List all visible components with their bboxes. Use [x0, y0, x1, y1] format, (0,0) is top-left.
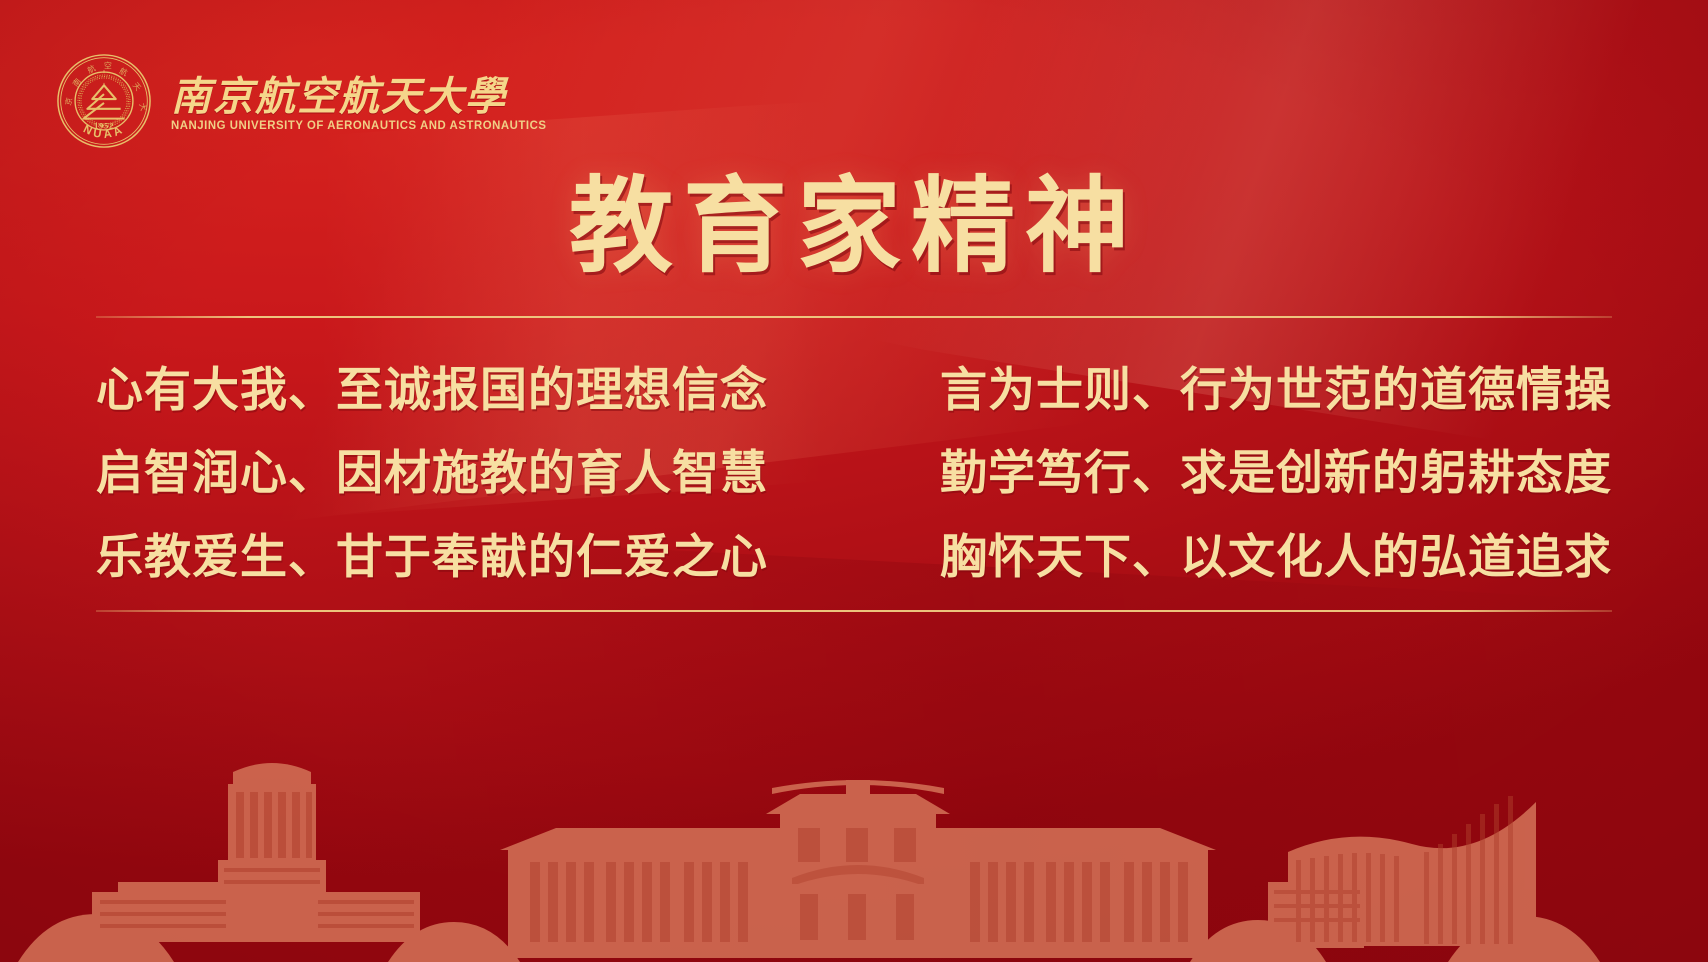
slogan-right-2: 勤学笃行、求是创新的躬耕态度: [940, 451, 1612, 498]
brand-lockup: 1952 NUAA 南 京 航 空 航 天 大 南京航空航天大學: [55, 52, 550, 150]
brand-text-block: 南京航空航天大學 NANJING UNIVERSITY OF AERONAUTI…: [171, 71, 550, 132]
slogan-grid: 心有大我、至诚报国的理想信念 言为士则、行为世范的道德情操 启智润心、因材施教的…: [96, 350, 1612, 600]
campus-buildings-silhouette-icon: [0, 732, 1708, 962]
divider-top: [96, 316, 1612, 318]
slogan-left-3: 乐教爱生、甘于奉献的仁爱之心: [96, 535, 768, 582]
svg-text:南: 南: [70, 76, 83, 88]
university-name-cn: 南京航空航天大學: [171, 77, 550, 117]
slogan-left-1: 心有大我、至诚报国的理想信念: [96, 368, 768, 415]
slogan-right-3: 胸怀天下、以文化人的弘道追求: [940, 535, 1612, 582]
slogan-right-1: 言为士则、行为世范的道德情操: [940, 368, 1612, 415]
page-title: 教育家精神: [0, 168, 1708, 288]
svg-text:空: 空: [104, 61, 112, 71]
slogan-left-2: 启智润心、因材施教的育人智慧: [96, 451, 768, 498]
svg-text:天: 天: [131, 81, 143, 93]
nuaa-emblem-icon: 1952 NUAA 南 京 航 空 航 天 大: [55, 52, 153, 150]
divider-bottom: [96, 610, 1612, 612]
svg-text:京: 京: [63, 96, 74, 106]
university-name-en: NANJING UNIVERSITY OF AERONAUTICS AND AS…: [171, 120, 547, 132]
poster-canvas: 1952 NUAA 南 京 航 空 航 天 大 南京航空航天大學: [0, 0, 1708, 962]
